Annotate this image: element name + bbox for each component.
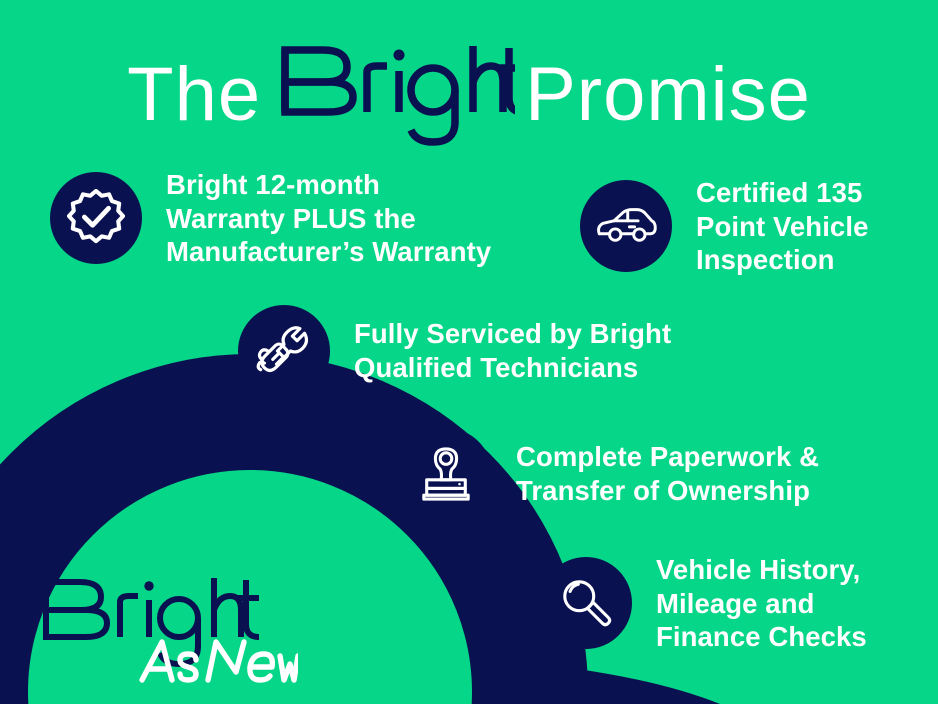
- feature-line: Certified 135: [696, 176, 868, 210]
- feature-line: Qualified Technicians: [354, 351, 671, 385]
- feature-row-servicing: Fully Serviced by Bright Qualified Techn…: [238, 305, 671, 397]
- page-title: The: [0, 38, 938, 152]
- corner-wedge-shape: [498, 660, 720, 704]
- bright-promise-poster: The: [0, 0, 938, 704]
- feature-label: Complete Paperwork & Transfer of Ownersh…: [516, 440, 819, 507]
- feature-line: Bright 12-month: [166, 168, 491, 202]
- headline-prefix: The: [127, 57, 261, 133]
- magnifying-glass-icon: [540, 557, 632, 649]
- feature-label: Certified 135 Point Vehicle Inspection: [696, 176, 868, 277]
- check-badge-icon: [50, 172, 142, 264]
- feature-line: Inspection: [696, 243, 868, 277]
- logo-asnew-word: [142, 642, 298, 680]
- headline-suffix: Promise: [525, 57, 811, 133]
- hand-spanner-icon: [238, 305, 330, 397]
- brightasnew-logo: [38, 572, 298, 692]
- feature-line: Vehicle History,: [656, 553, 867, 587]
- feature-line: Fully Serviced by Bright: [354, 317, 671, 351]
- feature-label: Vehicle History, Mileage and Finance Che…: [656, 553, 867, 654]
- feature-row-warranty: Bright 12-month Warranty PLUS the Manufa…: [50, 168, 491, 269]
- feature-line: Mileage and: [656, 587, 867, 621]
- feature-line: Manufacturer’s Warranty: [166, 235, 491, 269]
- feature-row-paperwork: Complete Paperwork & Transfer of Ownersh…: [400, 428, 819, 520]
- feature-row-history-checks: Vehicle History, Mileage and Finance Che…: [540, 553, 867, 654]
- rubber-stamp-icon: [400, 428, 492, 520]
- bright-wordmark-logo: [271, 38, 515, 152]
- feature-row-inspection: Certified 135 Point Vehicle Inspection: [580, 176, 868, 277]
- feature-label: Fully Serviced by Bright Qualified Techn…: [354, 317, 671, 384]
- feature-line: Complete Paperwork &: [516, 440, 819, 474]
- feature-label: Bright 12-month Warranty PLUS the Manufa…: [166, 168, 491, 269]
- feature-line: Finance Checks: [656, 620, 867, 654]
- logo-bright-word: [46, 578, 259, 664]
- feature-line: Warranty PLUS the: [166, 202, 491, 236]
- feature-line: Point Vehicle: [696, 210, 868, 244]
- car-icon: [580, 180, 672, 272]
- feature-line: Transfer of Ownership: [516, 474, 819, 508]
